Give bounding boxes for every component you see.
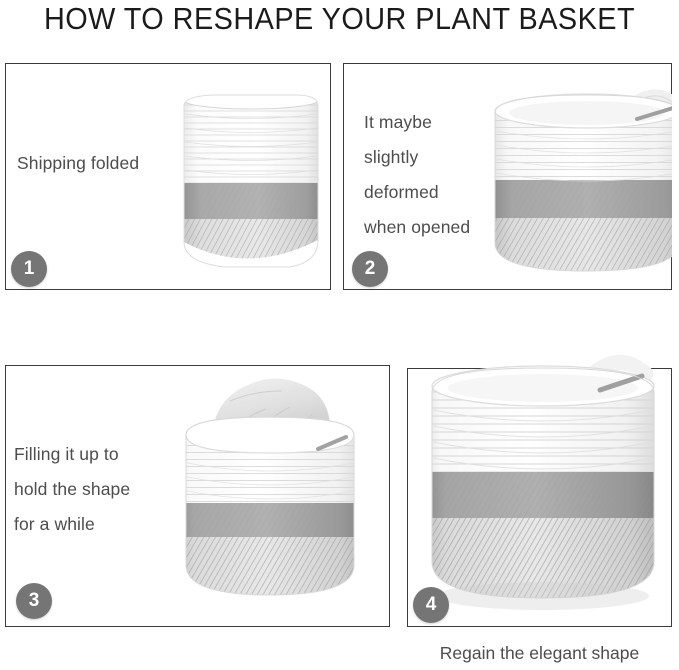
- step-4-caption: Regain the elegant shape: [407, 643, 672, 664]
- step-4-badge: 4: [413, 587, 449, 623]
- basket-image-deformed: [487, 75, 672, 290]
- basket-image-filled: [170, 365, 370, 627]
- step-1-badge: 1: [11, 251, 47, 287]
- step-2-badge: 2: [352, 251, 388, 287]
- step-3-badge: 3: [16, 583, 52, 619]
- basket-image-folded: [178, 90, 324, 275]
- basket-image-reshaped: [418, 340, 668, 630]
- page-title: HOW TO RESHAPE YOUR PLANT BASKET: [24, 1, 655, 37]
